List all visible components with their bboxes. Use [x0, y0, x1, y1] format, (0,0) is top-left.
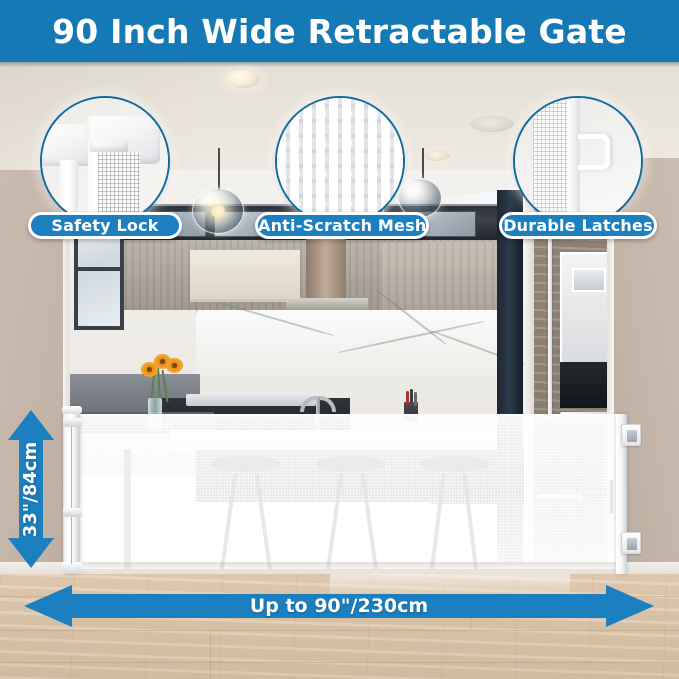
pendant-rod	[422, 148, 424, 178]
lock-tab	[90, 140, 128, 152]
gate-latch-bracket-bottom[interactable]	[621, 532, 641, 554]
sunflower-bloom	[166, 358, 183, 373]
marble-backsplash	[196, 310, 520, 376]
feature-label-pill: Anti-Scratch Mesh	[255, 212, 429, 239]
pendant-rod	[218, 148, 220, 190]
feature-zoom-circle	[40, 96, 170, 226]
stool-seat-behind-mesh	[316, 456, 386, 472]
feature-zoom-circle	[513, 96, 643, 226]
weave-knot	[342, 140, 352, 148]
feature-label-pill: Durable Latches	[499, 212, 657, 239]
weave-knot	[316, 170, 326, 178]
gate-mounting-clip[interactable]	[63, 508, 82, 517]
latch-bracket-icon	[578, 134, 610, 170]
page-title: 90 Inch Wide Retractable Gate	[52, 12, 627, 51]
utensil	[410, 389, 413, 403]
weave-knot	[290, 200, 300, 208]
appliance-display	[572, 268, 606, 292]
floor-seam	[0, 630, 679, 631]
mesh-weave-icon	[277, 98, 403, 224]
header-shadow-divider	[0, 62, 679, 67]
recessed-light-icon	[470, 116, 514, 132]
stool-leg-behind-mesh	[255, 474, 272, 570]
header-banner: 90 Inch Wide Retractable Gate	[0, 0, 679, 62]
pendant-bulb	[211, 204, 225, 218]
weave-knot	[342, 200, 352, 208]
gate-left-post-seam	[71, 418, 72, 564]
gate-handle[interactable]	[608, 480, 613, 514]
window-mullion	[74, 267, 124, 271]
mesh-texture	[533, 98, 569, 226]
utensil	[406, 391, 409, 405]
stool-leg-behind-mesh	[361, 474, 378, 570]
gate-floor-shadow	[68, 562, 620, 571]
stool-leg-behind-mesh	[430, 473, 446, 569]
weave-knot	[316, 110, 326, 118]
weave-knot	[342, 110, 352, 118]
stool-leg-behind-mesh	[326, 474, 343, 570]
feature-label: Anti-Scratch Mesh	[258, 216, 426, 235]
weave-knot	[342, 170, 352, 178]
feature-label: Durable Latches	[503, 216, 653, 235]
recessed-light-icon	[226, 70, 260, 88]
height-label-wrap: 33"/84cm	[8, 410, 54, 568]
dining-table	[186, 394, 316, 406]
feature-zoom-circle	[275, 96, 405, 226]
gate-left-post-cap	[62, 406, 82, 414]
weave-knot	[290, 170, 300, 178]
weave-knot	[368, 200, 378, 208]
cabinet-panel	[190, 250, 300, 302]
floor-seam	[210, 630, 211, 679]
stool-seat-behind-mesh	[420, 456, 490, 472]
height-dimension-arrow: 33"/84cm	[8, 410, 54, 568]
island-leg-behind-mesh	[124, 449, 131, 569]
weave-knot	[368, 170, 378, 178]
gate-latch-bracket-top[interactable]	[621, 424, 641, 446]
weave-knot	[290, 140, 300, 148]
gate-left-post-foot	[61, 562, 83, 574]
recessed-light-icon	[424, 150, 450, 161]
gate-left-post[interactable]	[64, 408, 80, 574]
width-label: Up to 90"/230cm	[24, 585, 654, 627]
marble-vein	[337, 320, 484, 353]
retractable-mesh-gate[interactable]	[68, 414, 620, 569]
weave-knot	[368, 110, 378, 118]
stool-seat-behind-mesh	[210, 456, 280, 472]
weave-knot	[290, 110, 300, 118]
feature-label: Safety Lock	[51, 216, 158, 235]
gate-mounting-clip[interactable]	[63, 418, 82, 427]
weave-knot	[316, 200, 326, 208]
cabinet-handle	[548, 224, 552, 420]
stool-leg-behind-mesh	[220, 474, 237, 570]
width-dimension-arrow: Up to 90"/230cm	[24, 585, 654, 627]
weave-knot	[316, 140, 326, 148]
stool-leg-behind-mesh	[462, 473, 478, 569]
feature-label-pill: Safety Lock	[28, 212, 182, 239]
floor-seam	[0, 662, 679, 663]
product-infographic: 90 Inch Wide Retractable Gate	[0, 0, 679, 679]
height-label: 33"/84cm	[21, 441, 42, 536]
utensil	[414, 392, 417, 406]
weave-knot	[368, 140, 378, 148]
